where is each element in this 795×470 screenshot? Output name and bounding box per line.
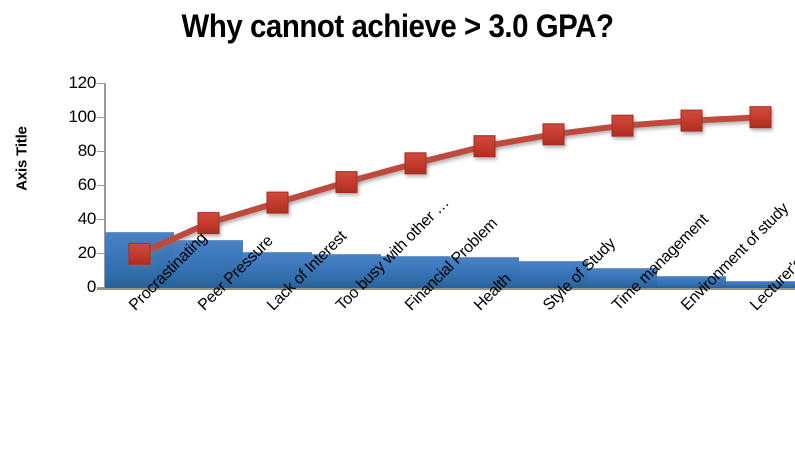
line-marker	[681, 110, 702, 131]
y-tick-label-60: 60	[50, 175, 96, 195]
y-tick-mark-100	[97, 117, 105, 118]
chart-title: Why cannot achieve > 3.0 GPA?	[32, 8, 763, 45]
line-marker	[612, 115, 633, 136]
y-tick-mark-60	[97, 185, 105, 186]
line-marker	[543, 124, 564, 145]
line-marker	[474, 136, 495, 157]
pareto-chart: Why cannot achieve > 3.0 GPA? Axis Title…	[0, 0, 795, 470]
y-tick-label-0: 0	[50, 277, 96, 297]
y-tick-mark-120	[97, 83, 105, 84]
y-tick-mark-40	[97, 219, 105, 220]
y-tick-mark-20	[97, 253, 105, 254]
line-marker	[198, 213, 219, 234]
y-tick-label-80: 80	[50, 141, 96, 161]
line-marker	[405, 153, 426, 174]
line-marker	[750, 107, 771, 128]
line-marker	[129, 243, 150, 264]
y-tick-label-20: 20	[50, 243, 96, 263]
x-axis-category-labels: ProcrastinatingPeer PressureLack of Inte…	[105, 296, 795, 466]
y-tick-mark-80	[97, 151, 105, 152]
y-tick-label-100: 100	[50, 107, 96, 127]
y-tick-label-40: 40	[50, 209, 96, 229]
y-tick-label-120: 120	[50, 73, 96, 93]
line-marker	[336, 172, 357, 193]
y-axis-tick-labels: 120 100 80 60 40 20 0	[20, 0, 96, 470]
line-marker	[267, 192, 288, 213]
